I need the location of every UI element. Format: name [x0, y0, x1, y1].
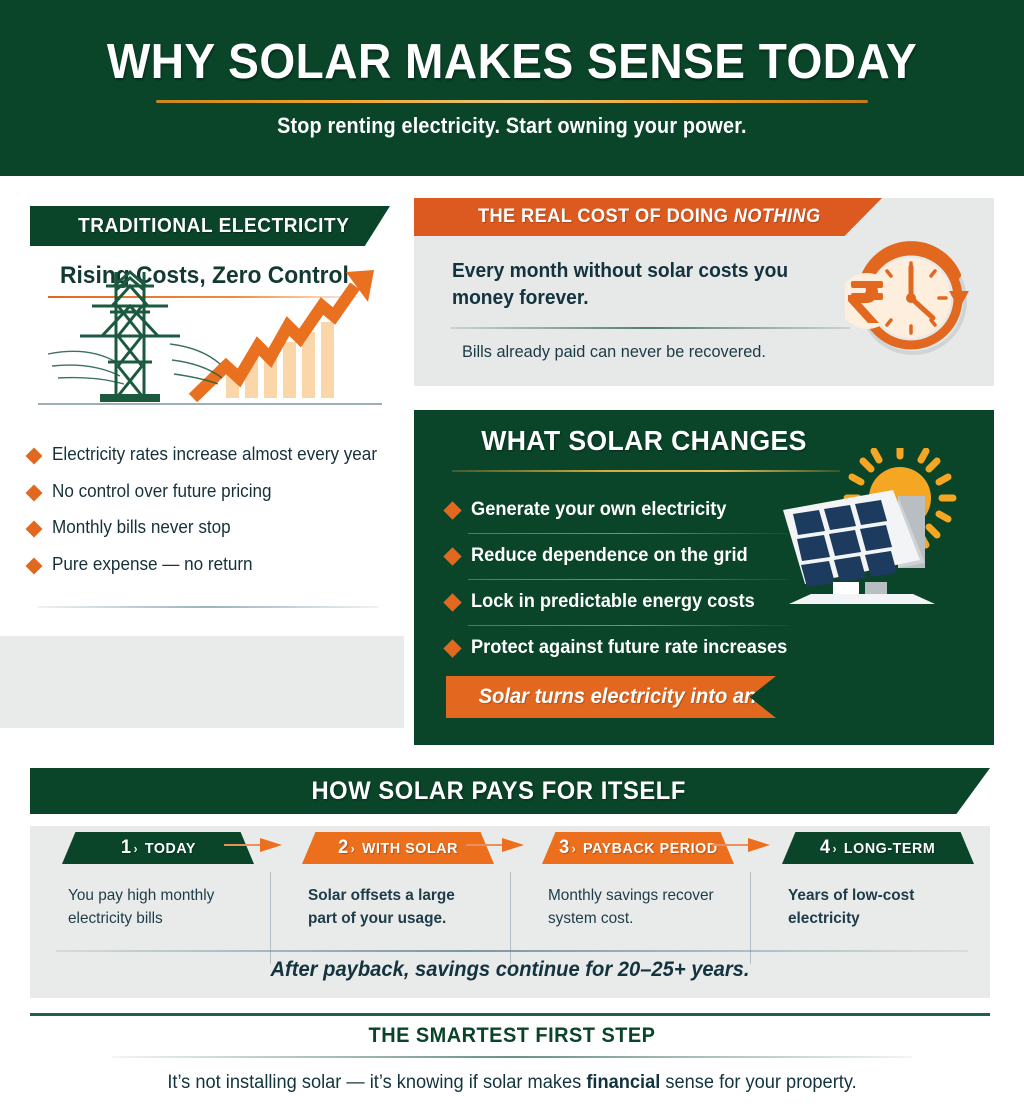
footer-divider	[112, 1056, 912, 1058]
chevron-right-icon: ›	[833, 841, 838, 856]
arrow-right-icon-1	[224, 838, 286, 852]
list-item: Reduce dependence on the grid	[446, 536, 806, 582]
list-item-label: Lock in predictable energy costs	[471, 591, 755, 613]
step-4-title: LONG-TERM	[844, 840, 935, 857]
footer-text-after: sense for your property.	[660, 1072, 856, 1093]
list-item: Protect against future rate increases	[446, 628, 806, 674]
step-3-chip[interactable]: 3›PAYBACK PERIOD	[542, 832, 734, 864]
solar-panel-sun-icon	[775, 448, 975, 613]
step-1-number: 1	[120, 837, 131, 858]
diamond-bullet-icon	[443, 547, 461, 565]
real-cost-ribbon: THE REAL COST OF DOING NOTHING	[414, 198, 882, 236]
step-3-number: 3	[559, 837, 570, 858]
diamond-bullet-icon	[26, 484, 43, 501]
traditional-electricity-label: TRADITIONAL ELECTRICITY	[38, 215, 349, 238]
traditional-electricity-bullets: Electricity rates increase almost every …	[28, 444, 408, 591]
list-item: Pure expense — no return	[28, 554, 408, 575]
real-cost-note: Bills already paid can never be recovere…	[462, 342, 865, 362]
step-2-title: WITH SOLAR	[362, 840, 458, 857]
real-cost-ribbon-prefix: THE REAL COST OF DOING	[478, 206, 734, 227]
left-panel-divider	[38, 606, 378, 608]
step-4-label: 4›LONG-TERM	[820, 837, 935, 859]
list-item: No control over future pricing	[28, 481, 408, 502]
list-item-separator	[468, 579, 788, 580]
step-3-description: Monthly savings recover system cost.	[548, 884, 725, 930]
list-item-separator	[468, 533, 788, 534]
chevron-right-icon: ›	[133, 841, 138, 856]
list-item-label: Generate your own electricity	[471, 499, 726, 521]
steps-divider	[56, 950, 968, 952]
header-divider	[156, 100, 868, 103]
what-solar-changes-list: Generate your own electricity Reduce dep…	[446, 490, 806, 674]
list-item: Generate your own electricity	[446, 490, 806, 536]
real-cost-headline: Every month without solar costs you mone…	[452, 258, 836, 312]
left-panel-gray-footer	[0, 636, 404, 728]
payback-note: After payback, savings continue for 20–2…	[49, 958, 971, 982]
footer-text-before: It’s not installing solar — it’s knowing…	[167, 1072, 586, 1093]
traditional-electricity-ribbon: TRADITIONAL ELECTRICITY	[30, 206, 390, 246]
list-item-separator	[468, 625, 788, 626]
diamond-bullet-icon	[443, 593, 461, 611]
list-item-label: Pure expense — no return	[52, 554, 253, 575]
step-1-title: TODAY	[144, 840, 195, 857]
step-1-label: 1›TODAY	[120, 837, 195, 859]
chevron-right-icon: ›	[571, 841, 576, 856]
real-cost-divider	[450, 327, 850, 329]
how-solar-pays-title: HOW SOLAR PAYS FOR ITSELF	[311, 777, 685, 806]
step-4-number: 4	[820, 837, 831, 858]
list-item-label: Electricity rates increase almost every …	[52, 444, 377, 465]
footer-text: It’s not installing solar — it’s knowing…	[20, 1072, 1003, 1094]
list-item: Monthly bills never stop	[28, 517, 408, 538]
arrow-right-icon-3	[712, 838, 774, 852]
list-item: Lock in predictable energy costs	[446, 582, 806, 628]
diamond-bullet-icon	[443, 639, 461, 657]
step-2-label: 2›WITH SOLAR	[338, 837, 458, 859]
real-cost-ribbon-label: THE REAL COST OF DOING NOTHING	[422, 206, 820, 228]
list-item-label: Reduce dependence on the grid	[471, 545, 748, 567]
list-item-label: No control over future pricing	[52, 481, 272, 502]
list-item-label: Monthly bills never stop	[52, 517, 231, 538]
real-cost-ribbon-emphasis: NOTHING	[734, 206, 821, 227]
solar-asset-banner: Solar turns electricity into an asset.	[446, 676, 776, 718]
power-pylon-rising-bar-chart-icon	[30, 250, 390, 410]
footer-top-rule	[30, 1013, 990, 1016]
step-3-title: PAYBACK PERIOD	[583, 840, 718, 857]
step-2-description: Solar offsets a large part of your usage…	[308, 884, 485, 930]
diamond-bullet-icon	[26, 558, 43, 575]
step-4-chip[interactable]: 4›LONG-TERM	[782, 832, 974, 864]
footer-text-emphasis: financial	[586, 1072, 660, 1093]
diamond-bullet-icon	[443, 501, 461, 519]
step-4-description: Years of low-cost electricity	[788, 884, 965, 930]
chevron-right-icon: ›	[351, 841, 356, 856]
how-solar-pays-banner: HOW SOLAR PAYS FOR ITSELF	[30, 768, 990, 814]
list-item: Electricity rates increase almost every …	[28, 444, 408, 465]
step-1-description: You pay high monthly electricity bills	[68, 884, 245, 930]
diamond-bullet-icon	[26, 448, 43, 465]
step-3-label: 3›PAYBACK PERIOD	[559, 837, 718, 859]
infographic-page: WHY SOLAR MAKES SENSE TODAY Stop renting…	[0, 0, 1024, 1117]
page-title: WHY SOLAR MAKES SENSE TODAY	[107, 37, 917, 88]
arrow-right-icon-2	[466, 838, 528, 852]
header-subtitle: Stop renting electricity. Start owning y…	[277, 113, 747, 139]
header-banner: WHY SOLAR MAKES SENSE TODAY Stop renting…	[0, 0, 1024, 176]
footer-title: THE SMARTEST FIRST STEP	[26, 1024, 999, 1048]
step-2-number: 2	[338, 837, 349, 858]
diamond-bullet-icon	[26, 521, 43, 538]
list-item-label: Protect against future rate increases	[471, 637, 787, 659]
clock-rupee-icon	[845, 235, 975, 365]
